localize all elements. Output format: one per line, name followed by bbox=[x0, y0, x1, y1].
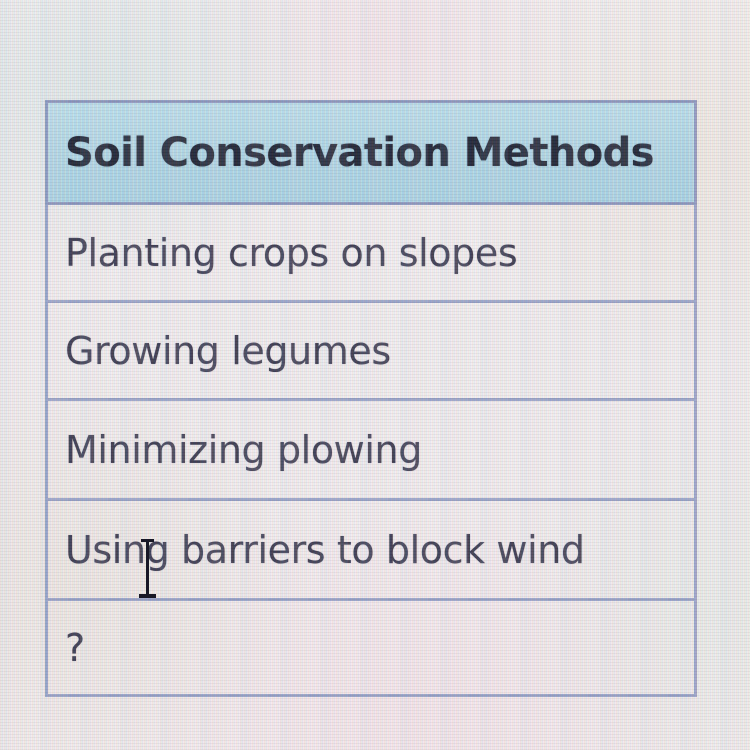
table-row: Growing legumes bbox=[47, 302, 696, 400]
table-body: Planting crops on slopes Growing legumes… bbox=[47, 204, 696, 696]
table-cell-method-4: Using barriers to block wind bbox=[47, 500, 696, 600]
table-header-cell-title: Soil Conservation Methods bbox=[47, 102, 696, 204]
table-row: Planting crops on slopes bbox=[47, 204, 696, 302]
photographed-screen-background: Soil Conservation Methods Planting crops… bbox=[0, 0, 750, 750]
table-cell-method-5-unknown: ? bbox=[47, 600, 696, 696]
table-cell-method-3: Minimizing plowing bbox=[47, 400, 696, 500]
table-row: Using barriers to block wind bbox=[47, 500, 696, 600]
table-row: ? bbox=[47, 600, 696, 696]
soil-conservation-methods-table: Soil Conservation Methods Planting crops… bbox=[45, 100, 697, 697]
table-row: Minimizing plowing bbox=[47, 400, 696, 500]
table-cell-method-2: Growing legumes bbox=[47, 302, 696, 400]
table-header: Soil Conservation Methods bbox=[47, 102, 696, 204]
table-cell-method-1: Planting crops on slopes bbox=[47, 204, 696, 302]
table-header-row: Soil Conservation Methods bbox=[47, 102, 696, 204]
